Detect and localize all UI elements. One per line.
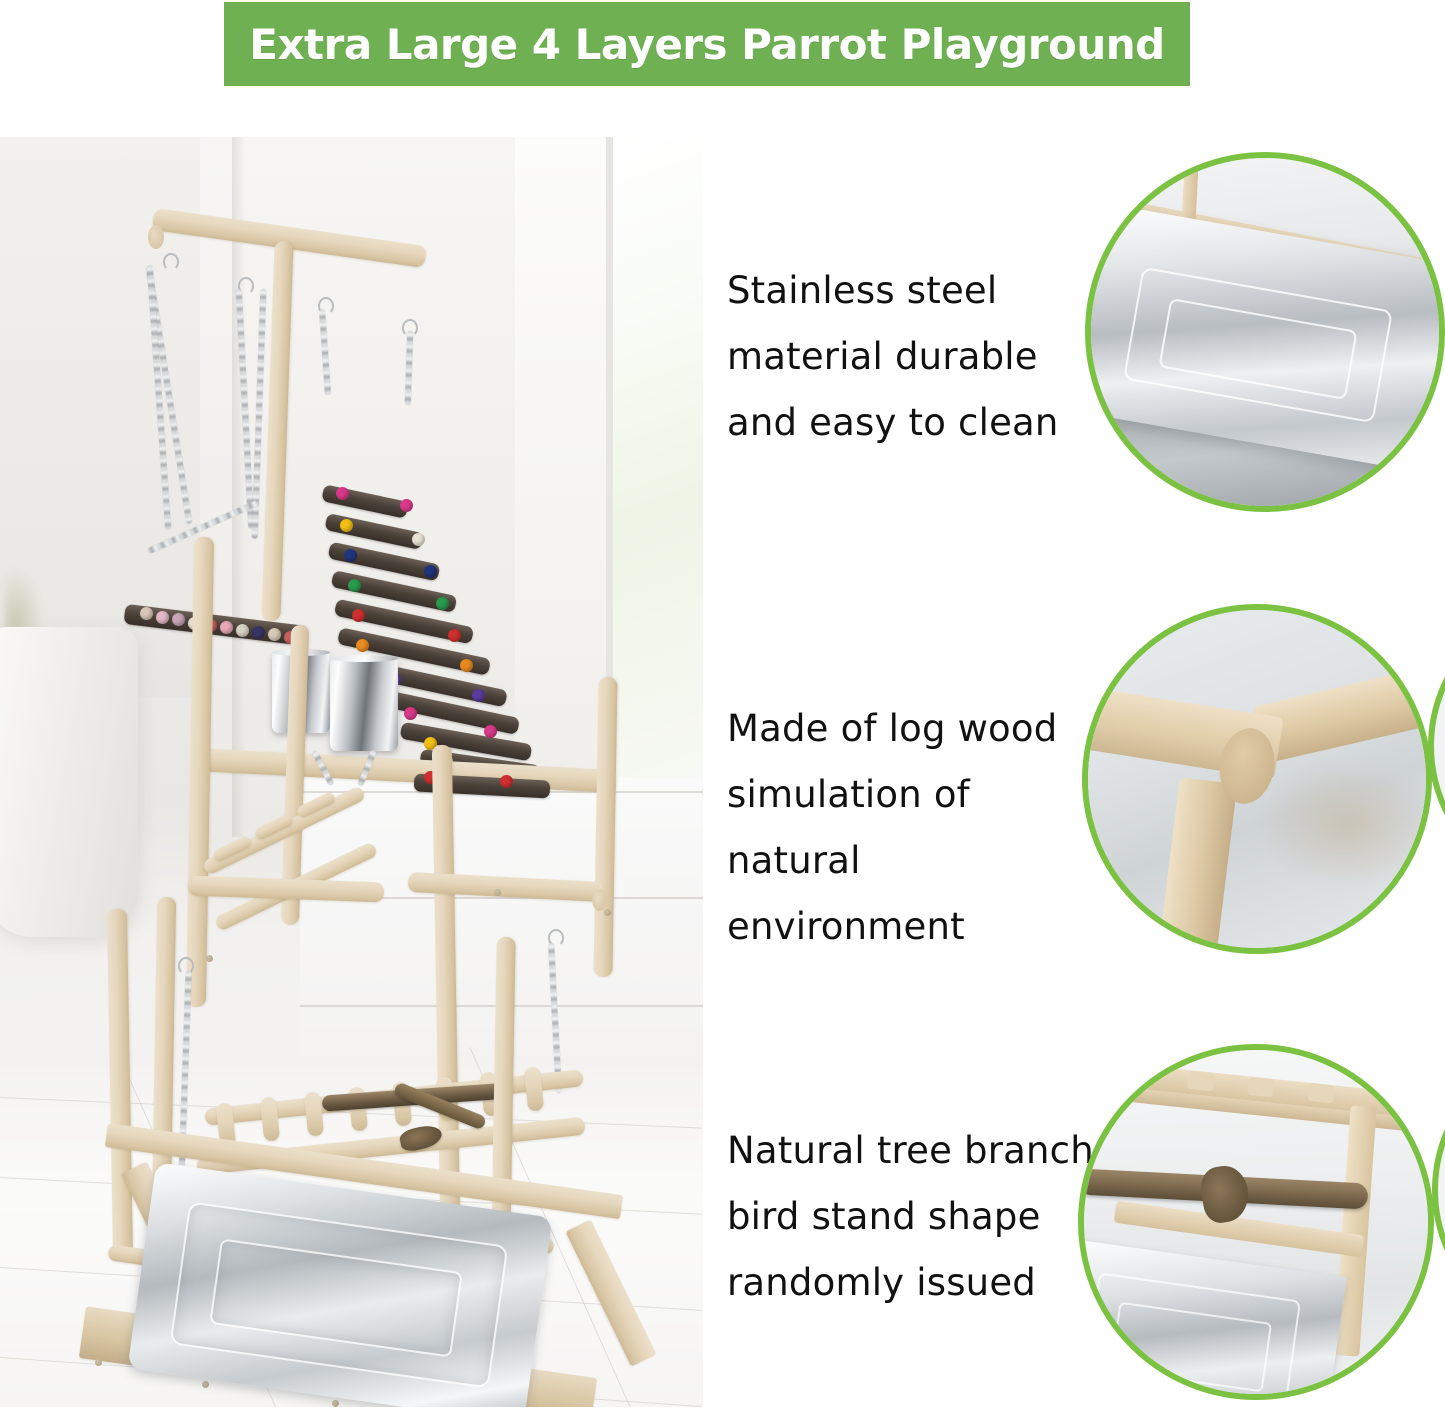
- swing-bead: [236, 624, 249, 637]
- background-blur: [1258, 760, 1432, 890]
- feature-text-log-wood: Made of log wood simulation of natural e…: [727, 696, 1099, 960]
- swing-bead: [156, 611, 169, 624]
- ladder-bead: [400, 499, 413, 512]
- page-title: Extra Large 4 Layers Parrot Playground: [249, 20, 1164, 69]
- frame-screw: [604, 909, 611, 916]
- product-hero-image: [0, 137, 703, 1407]
- ladder-bead: [424, 565, 437, 578]
- window: [610, 137, 703, 817]
- feeding-cup-right-rim: [330, 655, 398, 662]
- feature-image-tree-branch: [1078, 1044, 1434, 1400]
- ladder-bead: [344, 549, 357, 562]
- swing-bead: [268, 628, 281, 641]
- ladder-bead: [336, 487, 349, 500]
- ladder-bead: [352, 609, 365, 622]
- lower-perch-bead: [500, 775, 513, 788]
- ladder-bead: [472, 689, 485, 702]
- base-tray-screw: [202, 1381, 209, 1388]
- ladder-bead: [404, 707, 417, 720]
- swing-bead: [220, 621, 233, 634]
- feeding-cup-right: [330, 659, 398, 751]
- feature-text-tree-branch: Natural tree branch bird stand shape ran…: [727, 1118, 1099, 1316]
- log-wood-joint-closeup: [1088, 610, 1426, 948]
- ladder-bead: [356, 639, 369, 652]
- swing-bead: [140, 607, 153, 620]
- stainless-steel-tray-closeup: [1091, 158, 1439, 506]
- ladder-bead: [460, 659, 473, 672]
- hero-scene: [0, 137, 703, 1407]
- base-tray-screw: [332, 1400, 339, 1407]
- infographic-page: Extra Large 4 Layers Parrot Playground: [0, 0, 1445, 1408]
- frame-screw: [494, 889, 501, 896]
- ladder-bead: [348, 579, 361, 592]
- title-banner: Extra Large 4 Layers Parrot Playground: [224, 2, 1190, 86]
- feature-text-stainless-steel: Stainless steel material durable and eas…: [727, 258, 1087, 456]
- crossbar-end-cap: [148, 225, 164, 249]
- mid-cross-bar-cap: [592, 889, 607, 911]
- base-tray-screw: [95, 1359, 102, 1366]
- swing-hook-left: [163, 253, 179, 271]
- ladder-bead: [436, 597, 449, 610]
- feature-image-edge-sliver-upper: [1428, 596, 1445, 896]
- feature-image-edge-sliver-lower: [1432, 1040, 1445, 1340]
- natural-branch-perch-closeup: [1084, 1050, 1428, 1394]
- swing-bead: [172, 613, 185, 626]
- ladder-bead: [340, 519, 353, 532]
- ladder-bead: [484, 725, 497, 738]
- frame-screw: [206, 955, 213, 962]
- floor-vase: [0, 627, 138, 937]
- swing-bead: [252, 626, 265, 639]
- ladder-bead: [448, 629, 461, 642]
- feature-image-log-wood: [1082, 604, 1432, 954]
- feature-image-stainless-steel: [1085, 152, 1445, 512]
- ladder-bead: [412, 533, 425, 546]
